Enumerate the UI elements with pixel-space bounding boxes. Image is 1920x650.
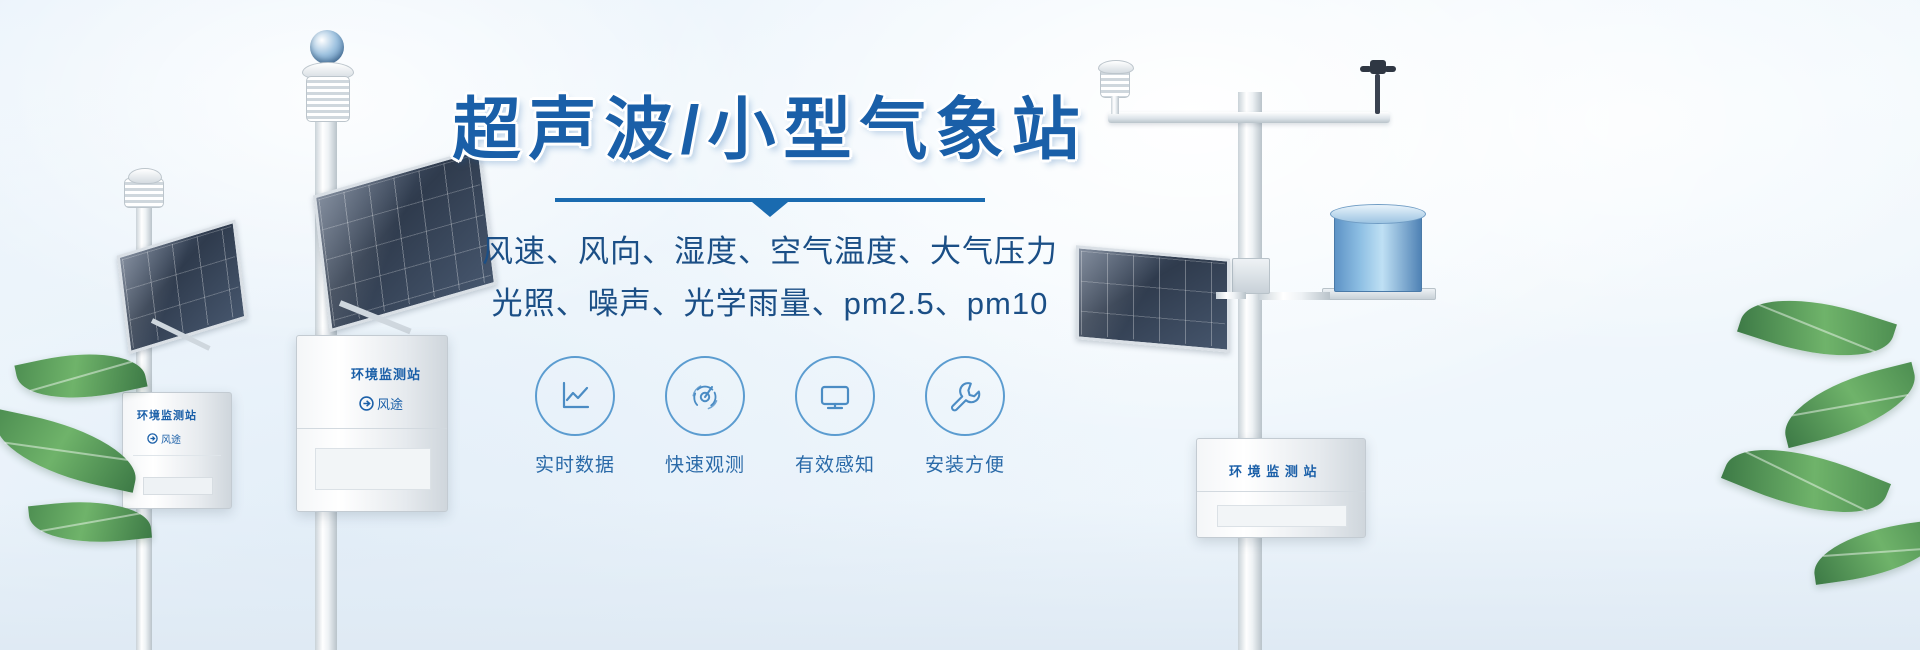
feature-label: 有效感知 bbox=[793, 450, 877, 477]
cabinet-panel-main bbox=[315, 448, 431, 490]
rain-gauge-rim-right bbox=[1330, 204, 1426, 224]
banner-content: 超声波/小型气象站 风速、风向、湿度、空气温度、大气压力 光照、噪声、光学雨量、… bbox=[440, 96, 1100, 477]
radar-observation-icon bbox=[685, 376, 725, 416]
cabinet-vent-left bbox=[143, 477, 213, 495]
ultrasonic-cap-right bbox=[1098, 60, 1134, 74]
feature-item-effective-sensing[interactable]: 有效感知 bbox=[793, 356, 877, 477]
cabinet-seam-left bbox=[133, 455, 221, 456]
arm-stub-left-right bbox=[1111, 96, 1119, 114]
cabinet-panel-right bbox=[1217, 505, 1347, 527]
feature-list: 实时数据 快速观测 bbox=[440, 356, 1100, 477]
cross-arm-right bbox=[1108, 112, 1390, 123]
feature-label: 安装方便 bbox=[923, 450, 1007, 477]
title-divider bbox=[555, 198, 985, 202]
subtitle-line-2: 光照、噪声、光学雨量、pm2.5、pm10 bbox=[440, 280, 1100, 328]
cabinet-seam-right bbox=[1197, 491, 1365, 492]
mast-right bbox=[1238, 92, 1262, 650]
cabinet-label-left: 环境监测站 bbox=[137, 407, 197, 423]
rain-gauge-right bbox=[1334, 212, 1422, 292]
cabinet-brand-left: 风途 bbox=[147, 431, 181, 446]
product-banner: 环境监测站 风途 环境监测站 bbox=[0, 0, 1920, 650]
subtitle-line-1: 风速、风向、湿度、空气温度、大气压力 bbox=[440, 228, 1100, 276]
feature-icon-circle bbox=[535, 356, 615, 436]
wind-vane-right bbox=[1360, 56, 1396, 114]
line-chart-icon bbox=[555, 376, 595, 416]
feature-item-easy-installation[interactable]: 安装方便 bbox=[923, 356, 1007, 477]
wrench-icon bbox=[945, 376, 985, 416]
dome-sensor-main bbox=[310, 30, 344, 64]
ground-gradient bbox=[0, 500, 1920, 650]
leaf-bottom-right-2 bbox=[1776, 362, 1920, 448]
feature-icon-circle bbox=[925, 356, 1005, 436]
sensor-cap-left bbox=[128, 168, 162, 184]
feature-item-fast-observation[interactable]: 快速观测 bbox=[663, 356, 747, 477]
cabinet-brand-text-main: 风途 bbox=[377, 394, 403, 413]
divider-arrow-icon bbox=[752, 202, 788, 217]
cabinet-left: 环境监测站 风途 bbox=[122, 392, 232, 509]
cabinet-seam-main bbox=[297, 428, 447, 429]
feature-label: 实时数据 bbox=[533, 450, 617, 477]
feature-icon-circle bbox=[795, 356, 875, 436]
monitor-screen-icon bbox=[815, 376, 855, 416]
cabinet-main: 环境监测站 风途 bbox=[296, 335, 448, 512]
page-title: 超声波/小型气象站 bbox=[440, 96, 1100, 164]
feature-label: 快速观测 bbox=[663, 450, 747, 477]
sensor-head-main bbox=[306, 76, 350, 122]
cabinet-right: 环 境 监 测 站 bbox=[1196, 438, 1366, 538]
feature-item-realtime-data[interactable]: 实时数据 bbox=[533, 356, 617, 477]
cabinet-label-right: 环 境 监 测 站 bbox=[1229, 461, 1317, 480]
cabinet-label-main: 环境监测站 bbox=[351, 364, 421, 383]
mast-collar-right bbox=[1232, 258, 1270, 294]
feature-icon-circle bbox=[665, 356, 745, 436]
cabinet-brand-text-left: 风途 bbox=[161, 431, 181, 446]
cabinet-brand-main: 风途 bbox=[359, 394, 403, 413]
brand-mark-icon bbox=[359, 396, 374, 411]
panel-arm-right bbox=[1216, 292, 1246, 299]
brand-mark-icon bbox=[147, 433, 158, 444]
